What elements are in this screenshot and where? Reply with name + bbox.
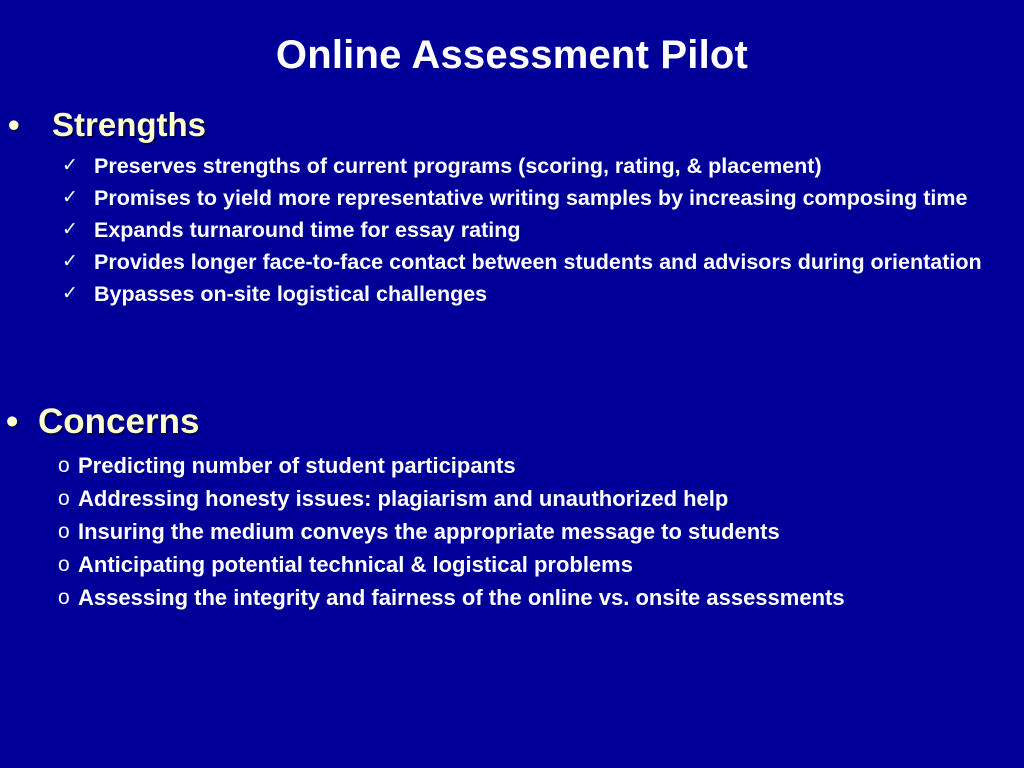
list-item: o Assessing the integrity and fairness o… — [58, 581, 1024, 614]
concerns-list: o Predicting number of student participa… — [0, 449, 1024, 614]
list-item: o Addressing honesty issues: plagiarism … — [58, 482, 1024, 515]
list-item-text: Addressing honesty issues: plagiarism an… — [78, 482, 1024, 515]
section-heading-label: Concerns — [38, 403, 199, 440]
list-item: o Insuring the medium conveys the approp… — [58, 515, 1024, 548]
list-item: ✓ Preserves strengths of current program… — [62, 151, 1024, 181]
list-item-text: Expands turnaround time for essay rating — [94, 215, 1004, 245]
check-mark-icon: ✓ — [62, 151, 94, 181]
list-item: ✓ Provides longer face-to-face contact b… — [62, 247, 1024, 277]
list-item: ✓ Promises to yield more representative … — [62, 183, 1024, 213]
check-mark-icon: ✓ — [62, 183, 94, 213]
circle-marker-icon: o — [58, 482, 78, 515]
list-item: ✓ Expands turnaround time for essay rati… — [62, 215, 1024, 245]
section-concerns: • Concerns o Predicting number of studen… — [0, 403, 1024, 614]
list-item-text: Insuring the medium conveys the appropri… — [78, 515, 1024, 548]
slide-body: • Strengths ✓ Preserves strengths of cur… — [0, 108, 1024, 614]
list-item-text: Assessing the integrity and fairness of … — [78, 581, 1024, 614]
strengths-list: ✓ Preserves strengths of current program… — [0, 151, 1024, 309]
slide-title: Online Assessment Pilot — [0, 33, 1024, 77]
check-mark-icon: ✓ — [62, 215, 94, 245]
circle-marker-icon: o — [58, 548, 78, 581]
check-mark-icon: ✓ — [62, 279, 94, 309]
section-spacer — [0, 311, 1024, 403]
bullet-dot-icon: • — [6, 403, 38, 440]
circle-marker-icon: o — [58, 515, 78, 548]
list-item: ✓ Bypasses on-site logistical challenges — [62, 279, 1024, 309]
list-item: o Predicting number of student participa… — [58, 449, 1024, 482]
list-item-text: Predicting number of student participant… — [78, 449, 1024, 482]
list-item-text: Provides longer face-to-face contact bet… — [94, 247, 1004, 277]
list-item-text: Promises to yield more representative wr… — [94, 183, 1004, 213]
list-item-text: Bypasses on-site logistical challenges — [94, 279, 1004, 309]
circle-marker-icon: o — [58, 581, 78, 614]
list-item-text: Anticipating potential technical & logis… — [78, 548, 1024, 581]
circle-marker-icon: o — [58, 449, 78, 482]
presentation-slide: Online Assessment Pilot • Strengths ✓ Pr… — [0, 0, 1024, 768]
bullet-dot-icon: • — [8, 108, 52, 143]
section-heading-label: Strengths — [52, 108, 206, 143]
list-item: o Anticipating potential technical & log… — [58, 548, 1024, 581]
section-strengths: • Strengths ✓ Preserves strengths of cur… — [0, 108, 1024, 309]
section-heading-strengths: • Strengths — [0, 108, 1024, 143]
check-mark-icon: ✓ — [62, 247, 94, 277]
section-heading-concerns: • Concerns — [0, 403, 1024, 440]
list-item-text: Preserves strengths of current programs … — [94, 151, 1004, 181]
